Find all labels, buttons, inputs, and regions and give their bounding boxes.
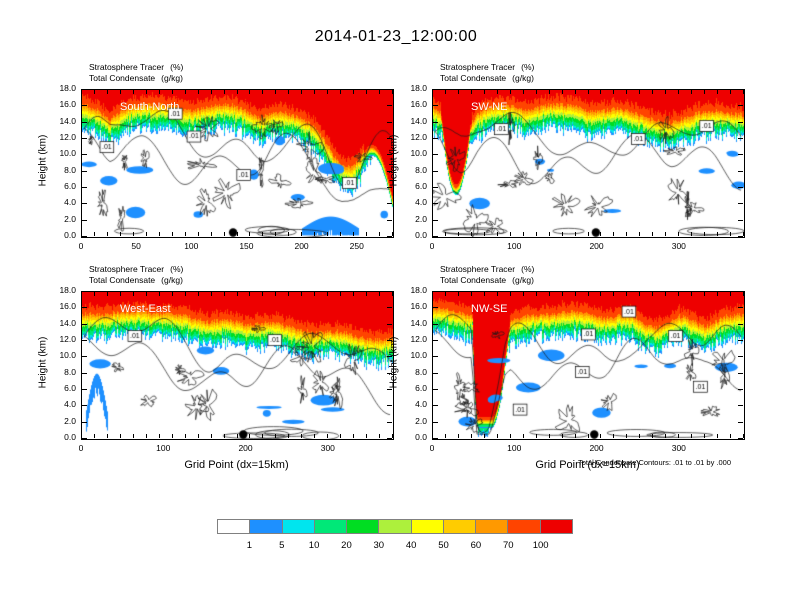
y-tick-mark-right [387,438,392,439]
y-tick-label: 2.0 [399,214,427,224]
x-tick-mark-top [224,90,225,94]
x-tick-mark [392,434,393,438]
panel-label: NW-SE [471,303,507,315]
header-condensate-line: Total Condensate(g/kg) [440,73,534,84]
y-axis-label: Height (km) [38,312,49,412]
x-tick-mark [133,434,134,438]
x-tick-mark-top [327,90,328,94]
x-tick-mark [327,434,328,438]
x-tick-mark [353,232,354,236]
x-tick-mark-top [81,292,82,296]
x-tick-mark-top [588,90,589,94]
y-tick-mark [82,138,87,139]
y-tick-mark [433,373,438,374]
plot-area: South-North [81,89,394,238]
y-tick-mark-right [738,340,743,341]
header-tracer-line: Stratosphere Tracer(%) [89,264,183,275]
x-tick-mark-top [665,292,666,296]
y-tick-mark-right [387,203,392,204]
x-tick-mark [730,232,731,236]
x-tick-label: 100 [143,443,183,453]
y-tick-label: 4.0 [399,197,427,207]
colorbar-tick-label: 100 [521,540,561,551]
x-tick-mark-top [536,292,537,296]
y-tick-label: 14.0 [399,318,427,328]
x-tick-mark [340,232,341,236]
y-tick-mark-right [738,422,743,423]
y-tick-mark [82,340,87,341]
x-tick-mark [301,434,302,438]
x-tick-mark [549,232,550,236]
x-tick-mark [366,232,367,236]
x-tick-mark [237,434,238,438]
x-tick-mark [613,232,614,236]
y-tick-mark [82,438,87,439]
y-tick-mark-right [387,405,392,406]
x-tick-mark-top [366,292,367,296]
x-tick-mark-top [691,292,692,296]
x-tick-label: 0 [61,241,101,251]
y-tick-label: 10.0 [48,148,76,158]
x-tick-mark [639,434,640,438]
x-tick-mark [445,434,446,438]
x-tick-mark-top [275,90,276,94]
x-tick-mark [275,434,276,438]
y-tick-label: 4.0 [399,399,427,409]
y-tick-mark-right [738,154,743,155]
header-condensate-unit: (g/kg) [161,73,183,83]
cross-section-field [82,90,393,237]
x-tick-mark-top [314,292,315,296]
panel-header: Stratosphere Tracer(%)Total Condensate(g… [440,62,534,83]
colorbar-swatch [443,520,475,533]
y-tick-label: 16.0 [48,99,76,109]
x-tick-mark-top [262,90,263,94]
x-tick-mark [314,434,315,438]
colorbar-swatch [411,520,443,533]
y-tick-mark [433,187,438,188]
x-tick-mark-top [146,90,147,94]
x-tick-mark-top [626,292,627,296]
x-tick-mark [575,232,576,236]
x-tick-mark-top [678,292,679,296]
x-tick-mark-top [613,292,614,296]
y-tick-mark [82,171,87,172]
header-tracer-line: Stratosphere Tracer(%) [440,264,534,275]
header-tracer-line: Stratosphere Tracer(%) [440,62,534,73]
x-tick-mark [484,232,485,236]
y-axis-label: Height (km) [389,312,400,412]
x-tick-label: 0 [412,241,452,251]
y-tick-mark-right [387,138,392,139]
x-tick-mark-top [133,90,134,94]
x-tick-mark [691,232,692,236]
y-tick-mark-right [387,122,392,123]
y-tick-mark [433,138,438,139]
y-tick-label: 18.0 [399,285,427,295]
x-tick-mark-top [549,90,550,94]
x-tick-mark-top [704,90,705,94]
y-tick-mark-right [738,389,743,390]
x-tick-mark [249,232,250,236]
x-tick-mark [146,434,147,438]
cross-section-field [82,292,393,439]
x-tick-mark-top [353,292,354,296]
y-tick-label: 4.0 [48,399,76,409]
colorbar-ticklabels: 1510203040506070100 [217,540,573,556]
y-tick-mark [433,405,438,406]
y-tick-mark [82,105,87,106]
x-tick-mark-top [743,90,744,94]
x-tick-label: 0 [412,443,452,453]
x-tick-mark [133,232,134,236]
x-tick-mark [94,232,95,236]
panel-header: Stratosphere Tracer(%)Total Condensate(g… [440,264,534,285]
x-tick-label: 150 [226,241,266,251]
y-tick-label: 18.0 [399,83,427,93]
x-tick-mark [432,434,433,438]
y-tick-mark [82,373,87,374]
x-tick-mark-top [562,90,563,94]
x-tick-mark-top [717,292,718,296]
y-tick-label: 14.0 [48,318,76,328]
x-tick-mark-top [639,292,640,296]
y-tick-mark [82,203,87,204]
x-tick-mark [262,232,263,236]
x-tick-mark [510,232,511,236]
x-tick-mark [562,434,563,438]
y-tick-mark-right [387,236,392,237]
header-condensate-line: Total Condensate(g/kg) [89,275,183,286]
x-tick-mark-top [392,90,393,94]
x-tick-mark-top [353,90,354,94]
y-tick-mark-right [738,438,743,439]
x-tick-label: 200 [226,443,266,453]
plot-area: SW-NE [432,89,745,238]
y-tick-mark-right [738,138,743,139]
y-tick-label: 4.0 [48,197,76,207]
y-tick-label: 0.0 [399,432,427,442]
colorbar-swatch [346,520,378,533]
y-tick-label: 18.0 [48,83,76,93]
y-tick-mark-right [738,187,743,188]
y-tick-mark-right [387,171,392,172]
x-tick-mark [678,434,679,438]
panel-header: Stratosphere Tracer(%)Total Condensate(g… [89,264,183,285]
x-tick-mark [353,434,354,438]
x-tick-mark [575,434,576,438]
x-axis-label: Grid Point (dx=15km) [137,459,337,471]
x-tick-mark [379,434,380,438]
y-tick-mark-right [738,236,743,237]
y-tick-mark-right [387,422,392,423]
x-tick-mark [185,232,186,236]
contour-footnote: Total Condensate Contours: .01 to .01 by… [578,458,731,467]
x-tick-mark [536,232,537,236]
x-tick-mark-top [639,90,640,94]
x-tick-mark [471,434,472,438]
x-tick-mark [730,434,731,438]
cross-section-field [433,292,744,439]
x-tick-mark [523,232,524,236]
x-tick-mark-top [432,292,433,296]
header-condensate-unit: (g/kg) [512,73,534,83]
x-tick-mark [392,232,393,236]
x-tick-mark [704,232,705,236]
y-tick-mark [82,389,87,390]
y-tick-mark-right [738,89,743,90]
y-tick-mark [82,405,87,406]
y-tick-mark-right [738,405,743,406]
colorbar-swatch [475,520,507,533]
colorbar-swatch [540,520,572,533]
x-tick-mark [288,232,289,236]
y-tick-label: 12.0 [48,334,76,344]
x-tick-mark-top [224,292,225,296]
x-tick-mark-top [510,90,511,94]
x-tick-mark-top [198,90,199,94]
y-tick-mark [433,307,438,308]
colorbar-swatch [249,520,281,533]
x-tick-mark-top [249,90,250,94]
y-tick-mark [433,340,438,341]
x-tick-mark-top [652,292,653,296]
x-tick-mark-top [575,292,576,296]
x-tick-mark-top [600,292,601,296]
colorbar-swatch [314,520,346,533]
x-tick-mark-top [432,90,433,94]
y-tick-mark-right [387,220,392,221]
x-tick-mark [743,232,744,236]
y-tick-mark-right [387,291,392,292]
colorbar: 1510203040506070100 [217,519,573,556]
y-tick-label: 8.0 [399,165,427,175]
x-tick-mark-top [717,90,718,94]
y-tick-label: 12.0 [399,334,427,344]
y-tick-mark [82,187,87,188]
x-tick-mark [600,434,601,438]
x-tick-mark-top [146,292,147,296]
x-tick-mark [613,434,614,438]
y-tick-mark [433,291,438,292]
y-tick-mark [82,307,87,308]
header-tracer-unit: (%) [170,264,183,274]
x-tick-mark-top [301,292,302,296]
x-tick-mark-top [249,292,250,296]
y-tick-label: 0.0 [48,432,76,442]
x-tick-label: 300 [308,443,348,453]
x-tick-mark-top [484,90,485,94]
y-tick-mark-right [738,105,743,106]
x-tick-mark-top [379,90,380,94]
x-tick-mark-top [379,292,380,296]
y-tick-label: 2.0 [48,214,76,224]
x-tick-label: 300 [659,443,699,453]
y-tick-mark [433,105,438,106]
x-tick-mark [717,434,718,438]
x-tick-mark [224,232,225,236]
x-tick-mark-top [237,292,238,296]
x-tick-mark-top [314,90,315,94]
y-tick-mark-right [738,203,743,204]
x-tick-mark-top [575,90,576,94]
x-tick-mark [120,434,121,438]
y-tick-mark-right [387,340,392,341]
panel-label: West-East [120,303,171,315]
y-tick-mark [433,438,438,439]
y-tick-label: 2.0 [48,416,76,426]
y-tick-mark [433,154,438,155]
y-tick-mark-right [738,324,743,325]
x-tick-mark-top [172,292,173,296]
x-tick-mark-top [94,90,95,94]
x-tick-mark [445,232,446,236]
x-tick-mark-top [471,90,472,94]
x-tick-mark-top [484,292,485,296]
y-tick-mark-right [738,220,743,221]
x-tick-mark-top [691,90,692,94]
y-tick-mark-right [738,291,743,292]
x-tick-mark [497,434,498,438]
x-tick-mark [379,232,380,236]
x-tick-mark-top [327,292,328,296]
x-tick-mark-top [94,292,95,296]
x-tick-mark-top [120,90,121,94]
y-tick-label: 0.0 [48,230,76,240]
x-tick-mark [691,434,692,438]
y-tick-label: 14.0 [48,116,76,126]
x-tick-label: 100 [494,443,534,453]
y-tick-label: 18.0 [48,285,76,295]
x-tick-mark-top [523,90,524,94]
x-tick-mark-top [730,90,731,94]
y-tick-mark-right [738,373,743,374]
x-tick-mark [198,232,199,236]
x-tick-mark-top [626,90,627,94]
y-tick-label: 8.0 [48,367,76,377]
x-tick-mark-top [743,292,744,296]
x-tick-mark [652,232,653,236]
y-tick-label: 12.0 [399,132,427,142]
x-tick-mark-top [704,292,705,296]
header-condensate-line: Total Condensate(g/kg) [440,275,534,286]
x-tick-mark-top [445,292,446,296]
y-tick-mark [433,324,438,325]
colorbar-swatch [218,520,249,533]
y-tick-mark [433,236,438,237]
x-tick-mark [120,232,121,236]
x-tick-mark [510,434,511,438]
y-tick-mark [433,356,438,357]
x-tick-mark [159,434,160,438]
y-tick-mark [82,291,87,292]
y-tick-mark-right [387,356,392,357]
x-tick-mark [81,232,82,236]
x-tick-mark-top [536,90,537,94]
x-tick-mark [224,434,225,438]
y-tick-mark-right [738,307,743,308]
header-condensate-unit: (g/kg) [512,275,534,285]
x-tick-mark [717,232,718,236]
x-tick-mark-top [172,90,173,94]
x-tick-mark [458,434,459,438]
x-tick-mark-top [288,292,289,296]
x-tick-mark [211,232,212,236]
x-tick-label: 200 [577,443,617,453]
x-tick-mark-top [523,292,524,296]
y-tick-label: 14.0 [399,116,427,126]
x-tick-mark-top [340,292,341,296]
x-tick-mark-top [159,292,160,296]
x-tick-mark-top [665,90,666,94]
x-tick-label: 250 [337,241,377,251]
x-tick-mark-top [613,90,614,94]
y-tick-mark [82,89,87,90]
x-tick-mark-top [159,90,160,94]
header-tracer-unit: (%) [521,62,534,72]
x-tick-mark-top [185,90,186,94]
x-tick-mark-top [301,90,302,94]
y-tick-mark [433,171,438,172]
x-tick-mark [432,232,433,236]
x-tick-mark-top [288,90,289,94]
x-tick-mark [107,434,108,438]
y-tick-label: 10.0 [399,148,427,158]
y-tick-mark [433,89,438,90]
x-tick-label: 0 [61,443,101,453]
colorbar-swatches [217,519,573,534]
y-tick-label: 6.0 [48,383,76,393]
x-tick-mark [211,434,212,438]
y-tick-mark [82,324,87,325]
header-condensate-line: Total Condensate(g/kg) [89,73,183,84]
x-tick-mark [497,232,498,236]
x-tick-mark [743,434,744,438]
x-tick-mark-top [730,292,731,296]
y-tick-mark [82,122,87,123]
x-tick-mark [549,434,550,438]
x-tick-mark [172,232,173,236]
colorbar-swatch [282,520,314,533]
x-tick-label: 300 [659,241,699,251]
y-tick-mark [82,356,87,357]
x-tick-mark [146,232,147,236]
x-tick-mark-top [198,292,199,296]
x-tick-mark-top [120,292,121,296]
x-tick-mark [249,434,250,438]
y-tick-label: 6.0 [399,383,427,393]
x-tick-mark [340,434,341,438]
x-tick-mark [366,434,367,438]
x-tick-mark-top [497,292,498,296]
header-condensate-unit: (g/kg) [161,275,183,285]
header-tracer-unit: (%) [170,62,183,72]
y-tick-label: 12.0 [48,132,76,142]
header-tracer-unit: (%) [521,264,534,274]
x-tick-mark [94,434,95,438]
x-tick-label: 100 [494,241,534,251]
x-tick-mark-top [510,292,511,296]
panel-label: SW-NE [471,101,507,113]
x-tick-mark [107,232,108,236]
y-tick-mark-right [387,187,392,188]
y-tick-label: 10.0 [399,350,427,360]
x-tick-mark-top [275,292,276,296]
y-tick-mark [433,422,438,423]
y-tick-mark-right [738,356,743,357]
x-tick-mark-top [652,90,653,94]
x-tick-mark [185,434,186,438]
